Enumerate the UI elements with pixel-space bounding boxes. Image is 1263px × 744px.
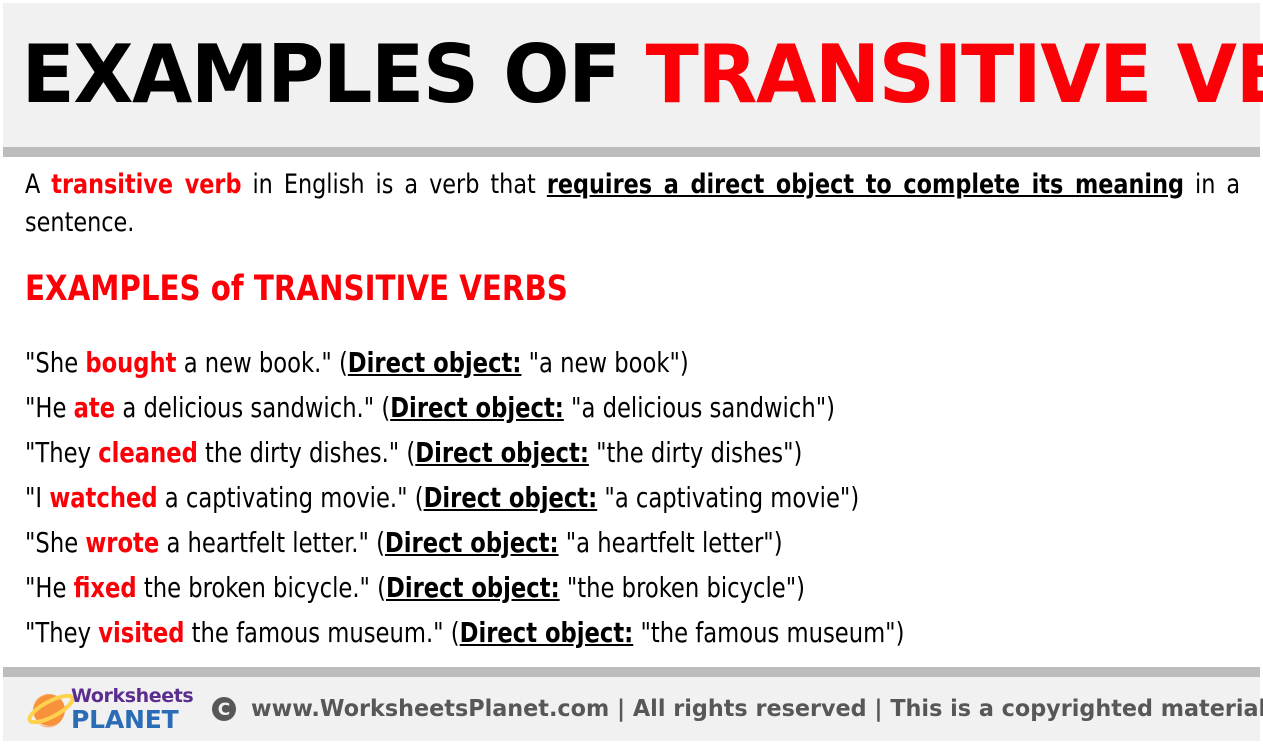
section-heading: EXAMPLES of TRANSITIVE VERBS [25, 242, 1155, 310]
list-item: "They cleaned the dirty dishes." (Direct… [25, 430, 1119, 475]
page-title-red: TRANSITIVE VERBS [646, 28, 1263, 121]
direct-object-label: Direct object: [385, 526, 559, 559]
example-suffix: a new book." ( [177, 346, 348, 379]
example-prefix: "They [25, 436, 98, 469]
direct-object-value: "the famous museum") [633, 616, 904, 649]
example-verb: ate [74, 391, 116, 424]
direct-object-label: Direct object: [386, 571, 560, 604]
definition-paragraph: A transitive verb in English is a verb t… [25, 157, 1240, 242]
direct-object-label: Direct object: [390, 391, 564, 424]
footer-divider [0, 667, 1263, 677]
logo-word-planet: PLANET [71, 707, 193, 732]
definition-underlined: requires a direct object to complete its… [547, 169, 1184, 200]
example-suffix: a delicious sandwich." ( [115, 391, 390, 424]
definition-text-2: in English is a verb that [241, 169, 546, 200]
footer-copyright-text: www.WorksheetsPlanet.com | All rights re… [251, 696, 1263, 722]
list-item: "I watched a captivating movie." (Direct… [25, 475, 1119, 520]
example-verb: watched [49, 481, 157, 514]
footer-banner: Worksheets PLANET C www.WorksheetsPlanet… [0, 677, 1263, 744]
direct-object-label: Direct object: [424, 481, 598, 514]
example-prefix: "He [25, 391, 74, 424]
definition-highlight: transitive verb [51, 169, 241, 200]
example-prefix: "He [25, 571, 74, 604]
logo-wordmark: Worksheets PLANET [71, 687, 193, 732]
page-title: EXAMPLES OF TRANSITIVE VERBS [3, 37, 1263, 113]
example-suffix: the broken bicycle." ( [137, 571, 386, 604]
example-verb: cleaned [98, 436, 198, 469]
header-divider [0, 147, 1263, 157]
direct-object-label: Direct object: [460, 616, 634, 649]
copyright-icon: C [211, 696, 237, 722]
worksheets-planet-logo[interactable]: Worksheets PLANET [25, 687, 193, 732]
example-verb: fixed [74, 571, 137, 604]
example-verb: visited [98, 616, 184, 649]
direct-object-value: "a heartfelt letter") [559, 526, 783, 559]
header-banner: EXAMPLES OF TRANSITIVE VERBS [0, 0, 1263, 147]
list-item: "She wrote a heartfelt letter." (Direct … [25, 520, 1119, 565]
example-prefix: "She [25, 346, 85, 379]
direct-object-value: "a new book") [521, 346, 688, 379]
worksheet-page: EXAMPLES OF TRANSITIVE VERBS A transitiv… [0, 0, 1263, 744]
planet-icon [25, 687, 77, 731]
example-prefix: "She [25, 526, 85, 559]
page-title-black: EXAMPLES OF [22, 28, 646, 121]
direct-object-value: "a captivating movie") [597, 481, 859, 514]
example-suffix: a captivating movie." ( [158, 481, 424, 514]
logo-word-worksheets: Worksheets [71, 687, 193, 706]
list-item: "They visited the famous museum." (Direc… [25, 610, 1119, 655]
svg-text:C: C [218, 700, 230, 720]
direct-object-label: Direct object: [415, 436, 589, 469]
example-suffix: the dirty dishes." ( [198, 436, 415, 469]
list-item: "She bought a new book." (Direct object:… [25, 340, 1119, 385]
example-prefix: "I [25, 481, 49, 514]
list-item: "He ate a delicious sandwich." (Direct o… [25, 385, 1119, 430]
example-prefix: "They [25, 616, 98, 649]
examples-list: "She bought a new book." (Direct object:… [25, 310, 1240, 655]
definition-text-1: A [25, 169, 51, 200]
example-verb: bought [85, 346, 176, 379]
direct-object-value: "the dirty dishes") [589, 436, 802, 469]
example-suffix: the famous museum." ( [184, 616, 459, 649]
direct-object-label: Direct object: [348, 346, 522, 379]
example-verb: wrote [85, 526, 159, 559]
direct-object-value: "a delicious sandwich") [564, 391, 835, 424]
example-suffix: a heartfelt letter." ( [159, 526, 385, 559]
list-item: "He fixed the broken bicycle." (Direct o… [25, 565, 1119, 610]
content-area: A transitive verb in English is a verb t… [0, 157, 1263, 667]
direct-object-value: "the broken bicycle") [560, 571, 805, 604]
